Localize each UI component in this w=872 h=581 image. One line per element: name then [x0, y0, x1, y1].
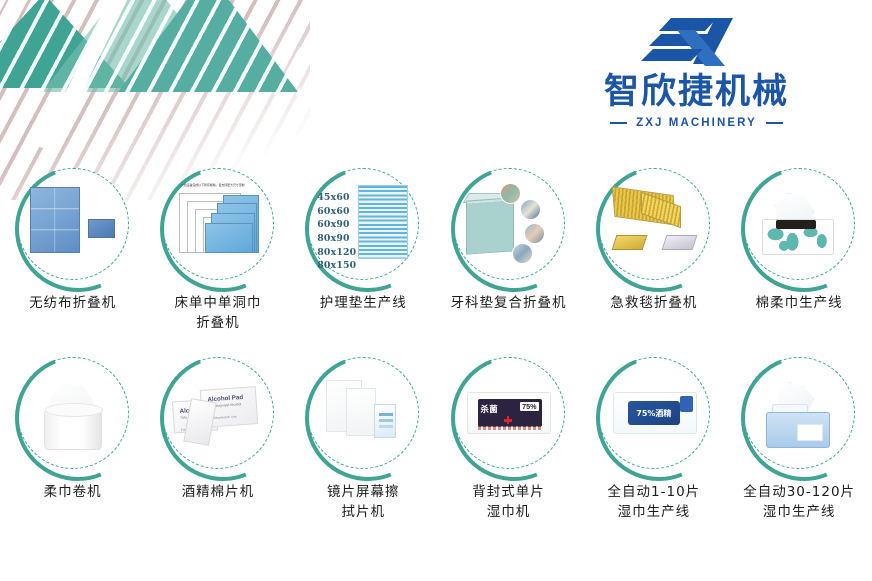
- product-image-circle: [453, 168, 565, 280]
- product-label: 无纺布折叠机: [29, 294, 116, 314]
- product-label: 酒精棉片机: [182, 483, 255, 503]
- lens-wipe-sheets-icon: [316, 366, 410, 460]
- product-item-underpad-production-line[interactable]: 45x60 60x60 60x90 80x90 80x120 80x150 护理…: [291, 168, 436, 333]
- emergency-blanket-icon: [607, 177, 701, 271]
- brand-logo: 智欣捷机械 ZXJ MACHINERY: [579, 14, 814, 129]
- diagram-note: 一台设备完成以下所有规格，且支持更大尺寸定制: [181, 183, 245, 187]
- product-image-circle: Alcohol Pad 70% Isopropyl Alcohol For Di…: [162, 357, 274, 469]
- product-label: 床单中单洞巾 折叠机: [174, 294, 261, 333]
- pack-main-text: 杀菌: [481, 403, 499, 415]
- product-row-1: 无纺布折叠机 一台设备完成以下所有规格，且支持更大尺寸定制: [0, 168, 872, 333]
- product-item-alcohol-pad-machine[interactable]: Alcohol Pad 70% Isopropyl Alcohol For Di…: [145, 357, 290, 522]
- product-image-circle: 75%酒精: [598, 357, 710, 469]
- patterned-tissue-box-icon: [752, 177, 846, 271]
- product-item-emergency-blanket-folding-machine[interactable]: 急救毯折叠机: [581, 168, 726, 333]
- product-image-circle: 一台设备完成以下所有规格，且支持更大尺寸定制: [162, 168, 274, 280]
- product-label: 镜片屏幕擦 拭片机: [327, 483, 400, 522]
- product-image-circle: [743, 168, 855, 280]
- medical-cross-icon: [504, 416, 512, 424]
- folded-blue-nonwoven-fabric-icon: [26, 177, 120, 271]
- usage-photo-icon: [524, 223, 545, 244]
- product-item-lens-screen-wipe-machine[interactable]: 镜片屏幕擦 拭片机: [291, 357, 436, 522]
- product-item-cotton-tissue-production-line[interactable]: 棉柔巾生产线: [726, 168, 871, 333]
- usage-photo-icon: [512, 243, 533, 264]
- pack-main-text: 75%酒精: [628, 408, 680, 419]
- brand-subtitle-row: ZXJ MACHINERY: [579, 117, 814, 129]
- product-label: 护理垫生产线: [320, 294, 407, 314]
- nested-sheet-size-diagram-icon: 一台设备完成以下所有规格，且支持更大尺寸定制: [171, 177, 265, 271]
- product-image-circle: [598, 168, 710, 280]
- product-item-auto-30-120-wipes-line[interactable]: 全自动30-120片 湿巾生产线: [726, 357, 871, 522]
- product-label: 牙科垫复合折叠机: [451, 294, 567, 314]
- product-image-circle: [17, 357, 129, 469]
- blue-wet-wipes-tub-icon: [752, 366, 846, 460]
- product-image-circle: [17, 168, 129, 280]
- zxj-logo-mark: [637, 14, 757, 72]
- product-label: 背封式单片 湿巾机: [472, 483, 545, 522]
- pack-reseal-tab-icon: [680, 396, 693, 412]
- product-image-circle: 杀菌 75%: [453, 357, 565, 469]
- product-image-circle: [307, 357, 419, 469]
- product-item-back-seal-single-wipe-machine[interactable]: 杀菌 75% 背封式单片 湿巾机: [436, 357, 581, 522]
- product-item-soft-towel-roll-machine[interactable]: 柔巾卷机: [0, 357, 145, 522]
- triangle-stripe-overlay: [0, 0, 300, 95]
- brand-name-cn: 智欣捷机械: [579, 74, 814, 111]
- product-label: 全自动1-10片 湿巾生产线: [608, 483, 701, 522]
- product-label: 急救毯折叠机: [610, 294, 697, 314]
- underpad-size-list-icon: 45x60 60x60 60x90 80x90 80x120 80x150: [316, 177, 410, 271]
- product-item-dental-bib-laminating-folding-machine[interactable]: 牙科垫复合折叠机: [436, 168, 581, 333]
- product-row-2: 柔巾卷机 Alcohol Pad 70% Isopropyl Alcohol F…: [0, 357, 872, 522]
- alcohol-wipes-flow-pack-icon: 75%酒精: [607, 366, 701, 460]
- alcohol-pad-sachets-icon: Alcohol Pad 70% Isopropyl Alcohol For Di…: [171, 366, 265, 460]
- brand-name-en: ZXJ MACHINERY: [636, 117, 757, 129]
- underpad-size-list: 45x60 60x60 60x90 80x90 80x120 80x150: [317, 191, 356, 273]
- product-item-nonwoven-folding-machine[interactable]: 无纺布折叠机: [0, 168, 145, 333]
- dash-right-icon: [766, 122, 783, 124]
- product-item-bedsheet-drape-folding-machine[interactable]: 一台设备完成以下所有规格，且支持更大尺寸定制 床单中单洞巾 折叠机: [145, 168, 290, 333]
- pack-percent-badge: 75%: [520, 402, 538, 411]
- usage-photo-icon: [500, 183, 521, 204]
- dash-left-icon: [610, 122, 627, 124]
- white-towel-roll-icon: [26, 366, 120, 460]
- sterilizing-wipe-pack-icon: 杀菌 75%: [462, 366, 556, 460]
- product-item-auto-1-10-wipes-line[interactable]: 75%酒精 全自动1-10片 湿巾生产线: [581, 357, 726, 522]
- poster-canvas: 智欣捷机械 ZXJ MACHINERY 无纺布折叠机: [0, 0, 872, 581]
- product-label: 柔巾卷机: [44, 483, 102, 503]
- product-image-circle: 45x60 60x60 60x90 80x90 80x120 80x150: [307, 168, 419, 280]
- product-grid: 无纺布折叠机 一台设备完成以下所有规格，且支持更大尺寸定制: [0, 168, 872, 522]
- usage-photo-icon: [520, 199, 541, 220]
- product-image-circle: [743, 357, 855, 469]
- stacked-dental-bibs-icon: [462, 177, 556, 271]
- product-label: 全自动30-120片 湿巾生产线: [743, 483, 855, 522]
- product-label: 棉柔巾生产线: [756, 294, 843, 314]
